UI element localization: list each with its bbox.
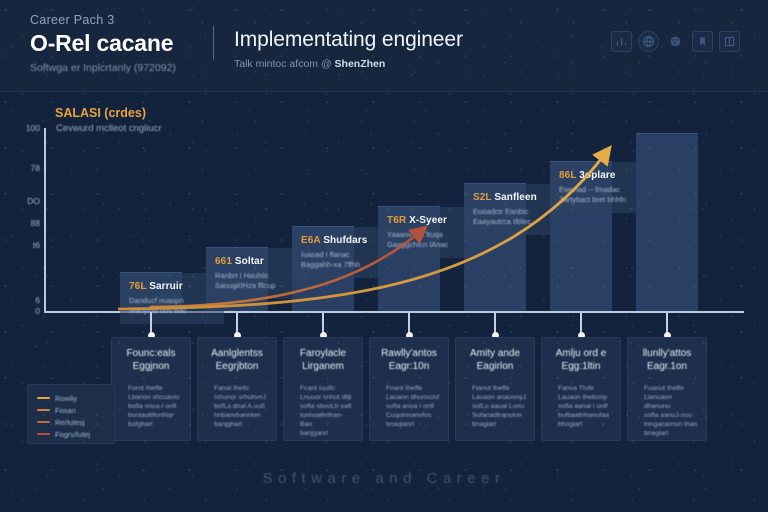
legend-item-3[interactable]: Rerlutesj — [37, 416, 108, 428]
y-axis-tick: 6 — [6, 295, 40, 305]
legend-color-swatch — [37, 397, 50, 400]
stage-card-row: Founc:ealsEggjnonFornt IheffeLbanon shcu… — [0, 337, 768, 447]
y-axis-line — [44, 128, 46, 312]
bar-6[interactable]: 86L 3oplareEwnnad -- fmadacZartybact bre… — [550, 161, 612, 311]
stage-connector-stem — [236, 312, 238, 334]
stage-connector-stem — [494, 312, 496, 334]
stage-connector-stem — [408, 312, 410, 334]
stage-card-title: Amity andeEagirlon — [463, 347, 527, 373]
legend-label: Fogrv/lutej — [55, 430, 90, 439]
header-left-subtitle: Softwga er Inplcrtanly (972092) — [30, 61, 230, 75]
legend-label: Rowliy — [55, 394, 77, 403]
header-role-location: ShenZhen — [335, 58, 386, 70]
stage-card-4[interactable]: Rawlly'antosEagr:10nFnant IheffeLauaon d… — [369, 337, 449, 441]
bar-label-desc: Danducf nuaspnteanytdd uos Bac — [129, 296, 216, 316]
header-role-title: Implementating engineer — [234, 27, 463, 53]
legend-label: Rerlutesj — [55, 418, 85, 427]
legend-color-swatch — [37, 409, 50, 412]
stage-card-body: Fanat IheltcIshunor srhuhvnJbofLa dnal A… — [205, 384, 269, 429]
bar-label-title: 86L 3oplare — [559, 169, 646, 182]
y-axis-tick: 88 — [6, 218, 40, 228]
header-role-subtitle: Talk mintoc afcom @ ShenZhen — [234, 57, 463, 71]
y-axis-tick: 100 — [6, 123, 40, 133]
bar-label-title: T6R X-Syeer — [387, 214, 474, 227]
stage-card-1[interactable]: Founc:ealsEggjnonFornt IheffeLbanon shcu… — [111, 337, 191, 441]
stage-card-title: Rawlly'antosEagr:10n — [377, 347, 441, 373]
bar-1[interactable]: 76L SarruirDanducf nuaspnteanytdd uos Ba… — [120, 272, 182, 311]
chart-axis-subtitle: Cevwurd mclleot cngliucr — [56, 123, 162, 134]
bar-label-title: E6A Shufdars — [301, 234, 388, 247]
network-icon[interactable] — [665, 31, 686, 52]
bar-label-desc: Ewnnad -- fmadacZartybact bret bhhfn — [559, 185, 646, 205]
bar-2[interactable]: 661 SoltarRanbrt I HaulslcSanugi0Hza fll… — [206, 247, 268, 311]
bar-label-desc: Ranbrt I HaulslcSanugi0Hza fllcup — [215, 271, 302, 291]
app-header: Career Pach 3 O-Rel cacane Softwga er In… — [0, 0, 768, 92]
stage-connector-stem — [322, 312, 324, 334]
y-axis-tick: 78 — [6, 163, 40, 173]
bar-5[interactable]: S2L SanfleenEuoadctr EanbtcEaayautrca Il… — [464, 183, 526, 311]
stage-card-body: Fanva TlufeLauaon thebonpsofla aanal I o… — [549, 384, 613, 429]
stage-card-title: AanlglentssEegrjbton — [205, 347, 269, 373]
stage-card-body: Fcant IuulfcLnuuor snhut dlijisofla sboo… — [291, 384, 355, 438]
y-axis-tick: t6 — [6, 240, 40, 250]
career-growth-bar-chart: SALASI (crdes) Cevwurd mclleot cngliucr … — [0, 92, 768, 352]
bar-4[interactable]: T6R X-SyeerYaaanv-a T'ltuqaGaaggchtcn lA… — [378, 206, 440, 311]
y-axis-ticks: 10078DO88t660 — [0, 92, 40, 352]
header-divider — [213, 26, 214, 60]
header-brand-title: O-Rel cacane — [30, 29, 230, 57]
stage-card-7[interactable]: llunlly'attosEagr.1onFuanut IheffeLlanua… — [627, 337, 707, 441]
stage-connector-stem — [580, 312, 582, 334]
bar-label-title: S2L Sanfleen — [473, 191, 560, 204]
chart-icon[interactable] — [611, 31, 632, 52]
footer-wordmark: Software and Career — [0, 470, 768, 487]
stage-card-title: llunlly'attosEagr.1on — [635, 347, 699, 373]
header-icon-toolbar[interactable] — [611, 31, 740, 52]
header-role-subtitle-prefix: Talk mintoc afcom @ — [234, 58, 335, 70]
stage-card-5[interactable]: Amity andeEagirlonFianut IheffeLauaon an… — [455, 337, 535, 441]
y-axis-tick: DO — [6, 196, 40, 206]
stage-card-body: Fuanut IheffeLlanuaon dhanunusofla aanuJ… — [635, 384, 699, 438]
bar-label-title: 76L Sarruir — [129, 280, 216, 293]
globe-icon[interactable] — [638, 31, 659, 52]
legend-item-1[interactable]: Rowliy — [37, 392, 108, 404]
bar-7[interactable] — [636, 133, 698, 311]
stage-card-2[interactable]: AanlglentssEegrjbtonFanat IheltcIshunor … — [197, 337, 277, 441]
bar-label-title: 661 Soltar — [215, 255, 302, 268]
grid-icon[interactable] — [719, 31, 740, 52]
bookmark-icon[interactable] — [692, 31, 713, 52]
legend-color-swatch — [37, 421, 50, 424]
stage-card-3[interactable]: FaroylacleLirganemFcant IuulfcLnuuor snh… — [283, 337, 363, 441]
legend-item-2[interactable]: Fosan — [37, 404, 108, 416]
bar-3[interactable]: E6A ShufdarsIuasad I flanacBaggahh-xa 7f… — [292, 226, 354, 311]
legend-label: Fosan — [55, 406, 76, 415]
legend-color-swatch — [37, 433, 50, 436]
header-brand-block: Career Pach 3 O-Rel cacane Softwga er In… — [30, 12, 230, 75]
y-axis-tick: 0 — [6, 306, 40, 316]
stage-card-body: Fornt IheffeLbanon shcuaviobofla snua-I … — [119, 384, 183, 429]
stage-card-body: Fnant IheffeLauaon dhunsclsfsofla anoa I… — [377, 384, 441, 429]
bar-label-desc: Yaaanv-a T'ltuqaGaaggchtcn lAnac — [387, 230, 474, 250]
stage-card-body: Fianut IheffeLauaon anaoonyJsofLu aaual … — [463, 384, 527, 429]
stage-card-title: Founc:ealsEggjnon — [119, 347, 183, 373]
stage-connector-stem — [150, 312, 152, 334]
header-eyebrow: Career Pach 3 — [30, 12, 230, 28]
stage-connector-stem — [666, 312, 668, 334]
stage-card-title: FaroylacleLirganem — [291, 347, 355, 373]
chart-axis-title: SALASI (crdes) — [55, 106, 146, 120]
stage-card-title: Amlju ord eEgg:1ltin — [549, 347, 613, 373]
header-role-block: Implementating engineer Talk mintoc afco… — [234, 27, 463, 71]
bar-label-desc: Euoadctr EanbtcEaayautrca Ilbtec — [473, 207, 560, 227]
chart-legend: RowliyFosanRerlutesjFogrv/lutej — [27, 384, 115, 444]
bar-label-desc: Iuasad I flanacBaggahh-xa 7ffhh — [301, 250, 388, 270]
legend-item-4[interactable]: Fogrv/lutej — [37, 428, 108, 440]
stage-card-6[interactable]: Amlju ord eEgg:1ltinFanva TlufeLauaon th… — [541, 337, 621, 441]
